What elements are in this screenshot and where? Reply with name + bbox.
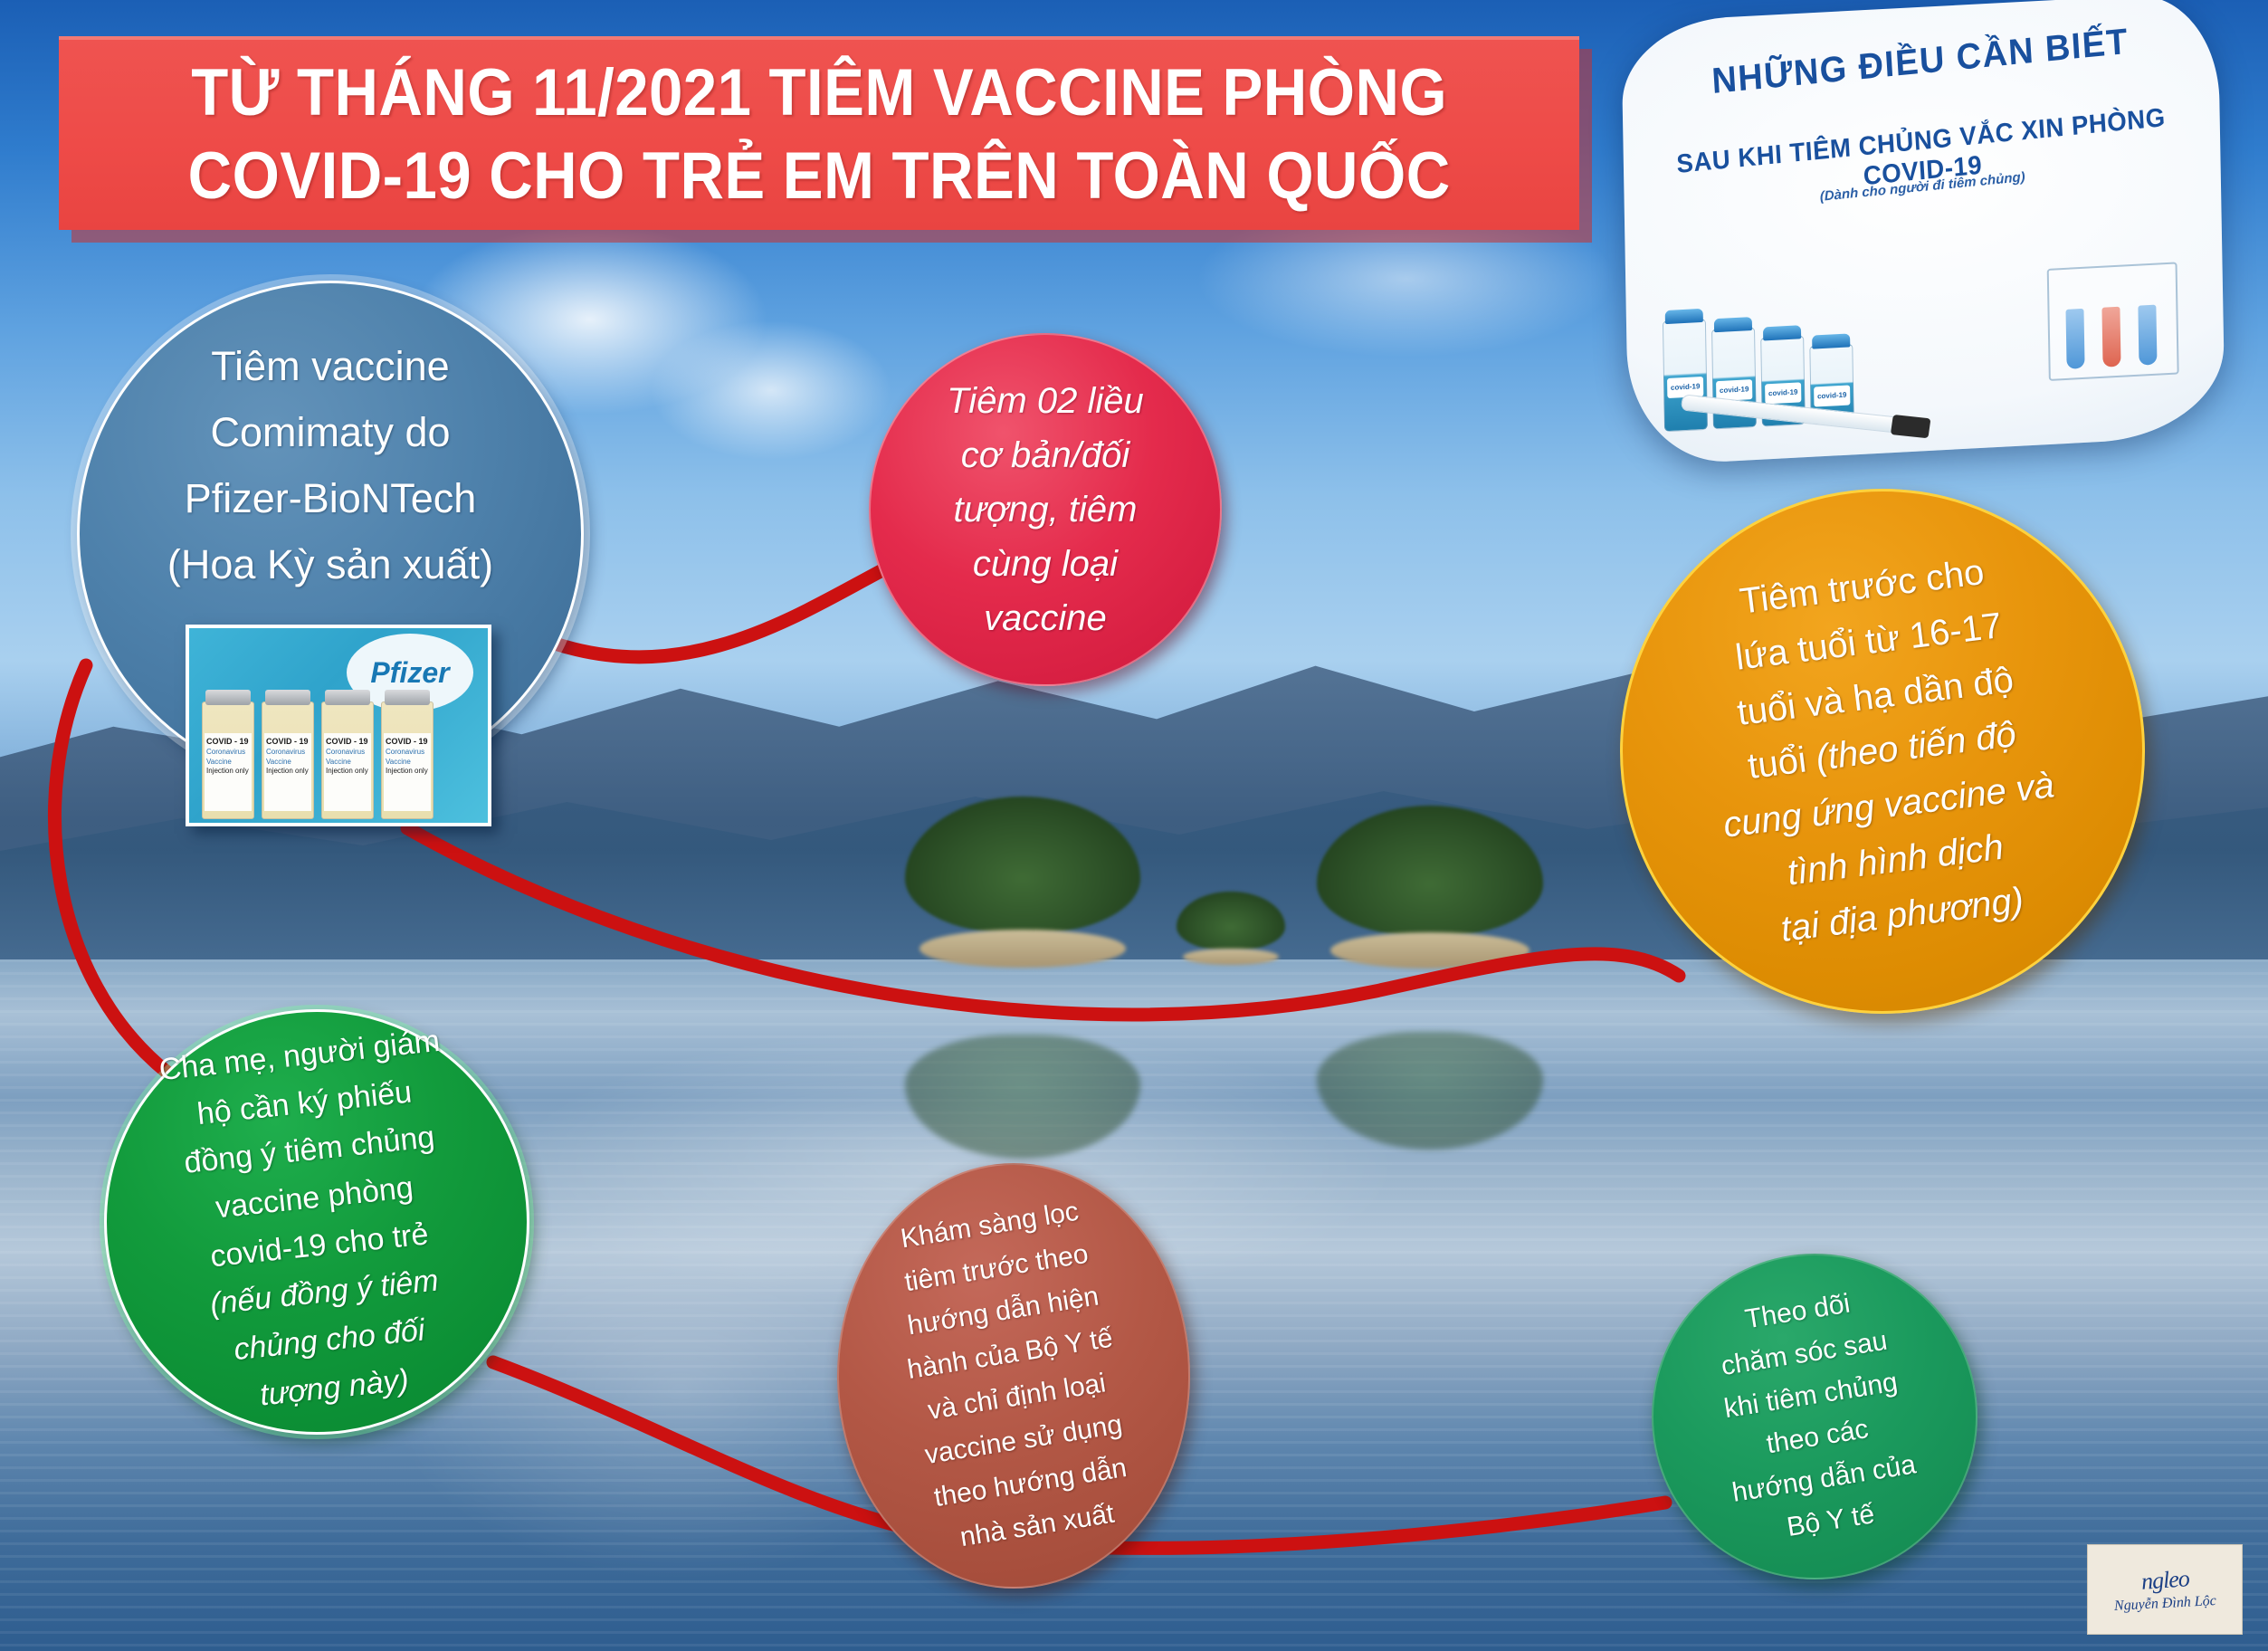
connector-blue-to-green xyxy=(54,665,167,1073)
bubble-two-doses-line: cơ bản/đối xyxy=(891,428,1199,482)
bubble-two-doses-line: vaccine xyxy=(891,591,1199,645)
bubble-vaccine-type-line: (Hoa Kỳ sản xuất) xyxy=(110,532,551,598)
pfizer-vial-sub: Injection only xyxy=(326,767,368,775)
bubble-age-priority[interactable]: Tiêm trước cho lứa tuổi từ 16-17 tuổi và… xyxy=(1620,489,2145,1014)
infographic-canvas: TỪ THÁNG 11/2021 TIÊM VACCINE PHÒNG COVI… xyxy=(0,0,2268,1651)
pfizer-vial-sub: Injection only xyxy=(206,767,249,775)
pfizer-vial-title: COVID - 19 xyxy=(206,737,249,746)
pfizer-vial-title: COVID - 19 xyxy=(266,737,309,746)
bubble-two-doses[interactable]: Tiêm 02 liều cơ bản/đối tượng, tiêm cùng… xyxy=(869,333,1222,686)
bubble-two-doses-line: cùng loại xyxy=(891,537,1199,591)
pfizer-vaccine-photo: Pfizer COVID - 19 Coronavirus Vaccine In… xyxy=(186,625,491,826)
pfizer-vial-sub: Coronavirus xyxy=(206,748,245,756)
bubble-vaccine-type-line: Pfizer-BioNTech xyxy=(110,466,551,532)
pfizer-vial-sub: Coronavirus xyxy=(266,748,305,756)
signature-scribble: ngleo xyxy=(2140,1565,2190,1596)
bubble-screening[interactable]: Khám sàng lọc tiêm trước theo hướng dẫn … xyxy=(837,1163,1190,1589)
bubble-parental-consent[interactable]: Cha mẹ, người giám hộ cần ký phiếu đồng … xyxy=(104,1009,529,1435)
connector-blue-to-pink xyxy=(552,570,882,657)
pfizer-vials-group: COVID - 19 Coronavirus Vaccine Injection… xyxy=(202,688,473,819)
pfizer-vial-sub: Vaccine xyxy=(206,758,232,766)
pfizer-vial-sub: Vaccine xyxy=(266,758,291,766)
bubble-age-priority-line: tuổi xyxy=(1746,740,1818,787)
bubble-two-doses-line: Tiêm 02 liều xyxy=(891,374,1199,428)
bubble-vaccine-type-line: Tiêm vaccine xyxy=(110,334,551,400)
pfizer-vial-sub: Vaccine xyxy=(386,758,411,766)
pfizer-vial-title: COVID - 19 xyxy=(386,737,428,746)
pfizer-vial-sub: Injection only xyxy=(266,767,309,775)
pfizer-vial-sub: Vaccine xyxy=(326,758,351,766)
pfizer-vial-sub: Injection only xyxy=(386,767,428,775)
bubble-two-doses-line: tượng, tiêm xyxy=(891,482,1199,537)
connector-blue-to-orange xyxy=(407,828,1679,1015)
bubble-vaccine-type-line: Comimaty do xyxy=(110,400,551,466)
signature-name: Nguyễn Đình Lộc xyxy=(2113,1593,2216,1615)
bubble-post-care[interactable]: Theo dõi chăm sóc sau khi tiêm chủng the… xyxy=(1652,1254,1977,1579)
signature-block: ngleo Nguyễn Đình Lộc xyxy=(2087,1544,2243,1635)
pfizer-vial-sub: Coronavirus xyxy=(386,748,424,756)
pfizer-vial-sub: Coronavirus xyxy=(326,748,365,756)
pfizer-vial-title: COVID - 19 xyxy=(326,737,368,746)
